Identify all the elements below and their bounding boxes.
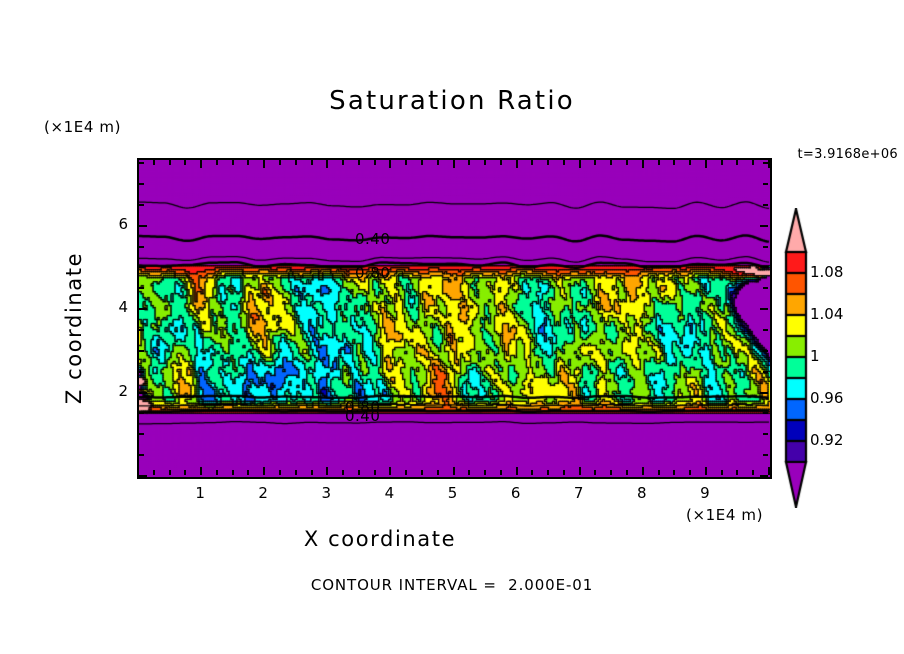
page-title: Saturation Ratio (0, 86, 904, 116)
colorbar-tick-label: 0.92 (810, 431, 843, 449)
contour-label: 0.40 (345, 407, 380, 425)
colorbar-gradient (783, 208, 809, 508)
y-tick-label: 2 (106, 382, 128, 400)
x-axis-unit-label: (×1E4 m) (686, 506, 763, 524)
x-tick-label: 9 (690, 484, 720, 502)
y-tick-label: 4 (106, 298, 128, 316)
contour-interval-caption: CONTOUR INTERVAL = 2.000E-01 (0, 576, 904, 594)
colorbar-tick-label: 1.08 (810, 263, 843, 281)
x-tick-label: 1 (185, 484, 215, 502)
contour-label: 0.80 (355, 264, 390, 282)
contour-label: 0.40 (355, 230, 390, 248)
x-tick-label: 8 (627, 484, 657, 502)
y-axis-title: Z coordinate (62, 238, 86, 418)
x-tick-label: 3 (311, 484, 341, 502)
x-tick-label: 4 (374, 484, 404, 502)
plot-area (137, 158, 772, 479)
y-tick-label: 6 (106, 215, 128, 233)
x-tick-label: 2 (248, 484, 278, 502)
colorbar: 1.081.0410.960.92 (783, 208, 809, 508)
x-tick-label: 7 (564, 484, 594, 502)
time-stamp-annotation: t=3.9168e+06 (797, 147, 898, 162)
colorbar-tick-label: 0.96 (810, 389, 843, 407)
colorbar-tick-label: 1 (810, 347, 820, 365)
x-tick-label: 6 (501, 484, 531, 502)
colorbar-tick-label: 1.04 (810, 305, 843, 323)
x-tick-label: 5 (438, 484, 468, 502)
figure-root: Saturation Ratio (×1E4 m) t=3.9168e+06 1… (0, 0, 904, 654)
saturation-ratio-contour-field (139, 160, 770, 477)
y-axis-unit-label: (×1E4 m) (44, 118, 121, 136)
x-axis-title: X coordinate (0, 527, 760, 551)
